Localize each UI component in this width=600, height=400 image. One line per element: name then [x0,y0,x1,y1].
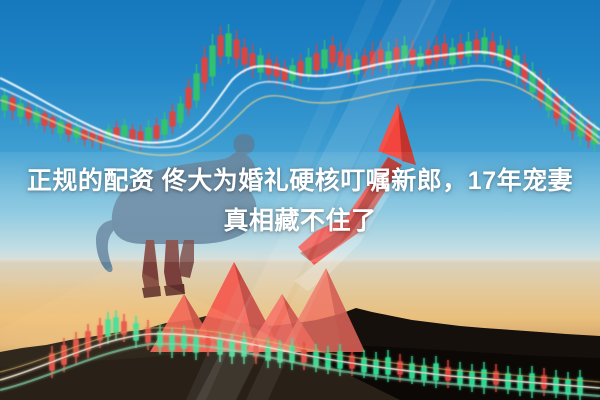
banner-image: 正规的配资 佟大为婚礼硬核叮嘱新郎，17年宠妻 真相藏不住了 [0,0,600,400]
headline-text: 正规的配资 佟大为婚礼硬核叮嘱新郎，17年宠妻 真相藏不住了 [0,161,600,241]
